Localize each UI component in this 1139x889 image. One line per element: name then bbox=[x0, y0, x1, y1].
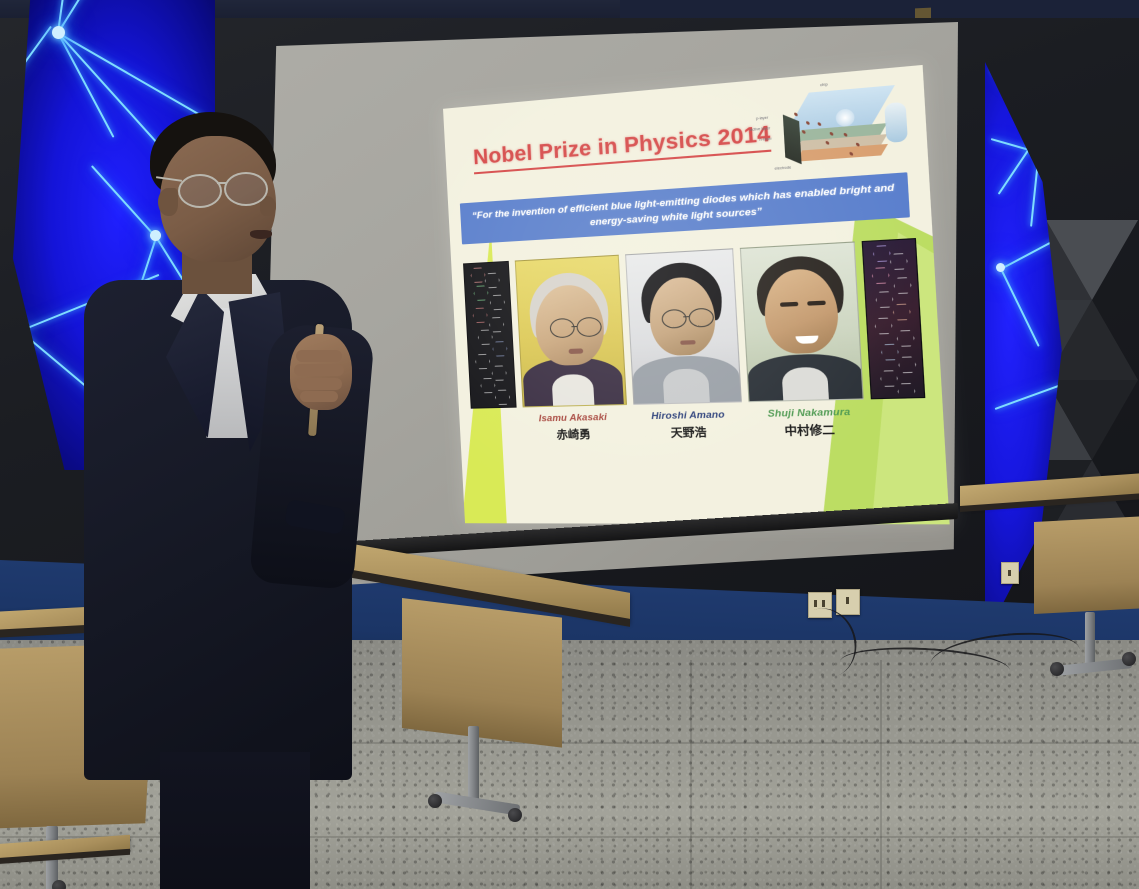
eyeglasses-icon bbox=[178, 174, 222, 208]
laureate-name-en-amano: Hiroshi Amano bbox=[629, 408, 748, 422]
floor-seam bbox=[690, 660, 692, 889]
laureate-portrait-amano bbox=[625, 248, 743, 405]
led-label-n-layer: n-layer bbox=[759, 137, 772, 142]
presenter bbox=[74, 112, 374, 889]
presentation-slide: Nobel Prize in Physics 2014 chip p-layer… bbox=[443, 65, 950, 524]
lecture-room-photo: Nobel Prize in Physics 2014 chip p-layer… bbox=[0, 0, 1139, 889]
eyeglasses-lens-right bbox=[224, 172, 268, 206]
wall-outlet-right[interactable] bbox=[836, 589, 860, 615]
led-label-electrode: electrode bbox=[774, 165, 791, 170]
presenter-mouth bbox=[250, 230, 272, 239]
laureate-name-1 bbox=[471, 413, 520, 472]
laureate-names-row: Isamu Akasaki 赤崎勇 Hiroshi Amano 天野浩 Shuj… bbox=[471, 404, 929, 472]
slide-title: Nobel Prize in Physics 2014 bbox=[473, 122, 772, 175]
presenter-legs bbox=[160, 752, 310, 889]
nobel-citation-quote: “For the invention of efficient blue lig… bbox=[460, 172, 910, 244]
laureate-portrait-nakamura bbox=[740, 241, 864, 402]
led-label-active-layer: active layer bbox=[750, 126, 771, 132]
led-label-p-layer: p-layer bbox=[756, 116, 769, 121]
laureate-name-jp-amano: 天野浩 bbox=[630, 422, 749, 441]
led-label-chip: chip bbox=[820, 82, 828, 87]
laureate-name-en-nakamura: Shuji Nakamura bbox=[747, 405, 872, 419]
table-center bbox=[330, 540, 690, 840]
laureate-photo-row bbox=[463, 238, 925, 409]
laureate-name-en-akasaki: Isamu Akasaki bbox=[517, 410, 630, 424]
laureate-name-5 bbox=[871, 404, 929, 469]
molecular-structure-panel-right bbox=[862, 238, 926, 399]
presenter-ear bbox=[158, 188, 178, 216]
floor-seam bbox=[880, 660, 882, 889]
led-diagram-bulb bbox=[884, 102, 908, 143]
laureate-name-amano: Hiroshi Amano 天野浩 bbox=[629, 408, 750, 471]
table-right bbox=[960, 486, 1139, 716]
laureate-name-akasaki: Isamu Akasaki 赤崎勇 bbox=[517, 410, 633, 471]
laureate-portrait-akasaki bbox=[515, 255, 627, 408]
laureate-name-nakamura: Shuji Nakamura 中村修二 bbox=[747, 405, 875, 470]
led-structure-diagram: chip p-layer active layer n-layer electr… bbox=[754, 75, 912, 180]
molecular-structure-panel-left bbox=[463, 261, 517, 409]
presenter-hand bbox=[290, 334, 352, 410]
eyeglasses-bridge bbox=[217, 182, 226, 184]
laureate-name-jp-akasaki: 赤崎勇 bbox=[518, 425, 631, 443]
laureate-name-jp-nakamura: 中村修二 bbox=[748, 420, 873, 439]
